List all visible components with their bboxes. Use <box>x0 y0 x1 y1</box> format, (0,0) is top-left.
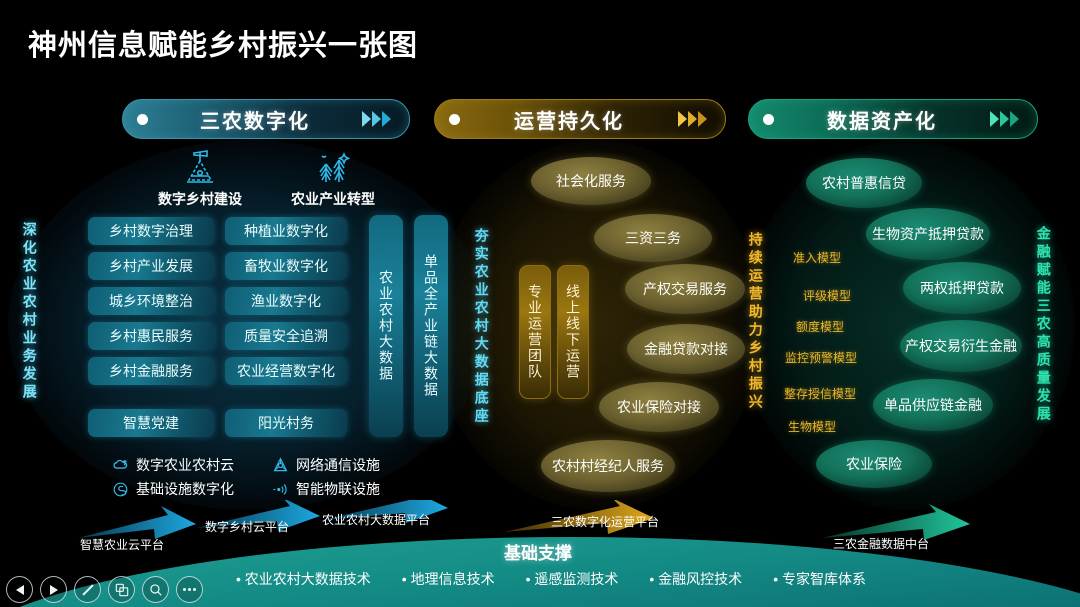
column-header-middle-label: 运营持久化 <box>460 105 678 134</box>
chip-left2-4[interactable]: 质量安全追溯 <box>225 322 347 350</box>
base-item-3: • 遥感监测技术 <box>526 569 619 589</box>
vbar-mid-1-label: 专业运营团队 <box>528 284 542 380</box>
agriculture-upgrade-icon <box>273 146 393 188</box>
chip-left2-1[interactable]: 种植业数字化 <box>225 217 347 245</box>
cloud-arrow-icon <box>112 457 129 474</box>
ellipse-right-3[interactable]: 两权抵押贷款 <box>903 262 1021 314</box>
ellipse-mid-5[interactable]: 农业保险对接 <box>599 382 719 432</box>
chip-left2-6[interactable]: 阳光村务 <box>225 409 347 437</box>
infrastructure-icon <box>112 481 129 498</box>
vbar-left-1[interactable]: 农业农村大数据 <box>369 215 403 437</box>
network-node-icon <box>272 457 289 474</box>
viewer-toolbar <box>6 576 203 603</box>
chevron-right-icon <box>362 111 395 127</box>
pen-button[interactable] <box>74 576 101 603</box>
ellipse-right-5[interactable]: 单品供应链金融 <box>873 379 993 431</box>
feature-left-2[interactable]: 网络通信设施 <box>272 455 380 475</box>
prev-button[interactable] <box>6 576 33 603</box>
base-support-title: 基础支撑 <box>504 539 572 564</box>
chip-left-3[interactable]: 城乡环境整治 <box>88 287 214 315</box>
model-text-1: 准入模型 <box>793 249 841 266</box>
chip-left-5[interactable]: 乡村金融服务 <box>88 357 214 385</box>
ellipse-mid-1[interactable]: 社会化服务 <box>531 157 651 205</box>
vbar-left-2-label: 单品全产业链大数据 <box>424 254 438 398</box>
side-label-left: 深化农业农村业务发展 <box>22 222 37 402</box>
feature-left-1-label: 数字农业农村云 <box>136 455 234 475</box>
model-text-4: 监控预警模型 <box>785 349 857 366</box>
chip-left2-3[interactable]: 渔业数字化 <box>225 287 347 315</box>
more-icon <box>183 588 196 591</box>
base-item-2: • 地理信息技术 <box>402 569 495 589</box>
ellipse-right-4[interactable]: 产权交易衍生金融 <box>900 320 1022 372</box>
side-label-middle: 持续运营助力乡村振兴 <box>748 232 763 412</box>
vbar-left-2[interactable]: 单品全产业链大数据 <box>414 215 448 437</box>
agriculture-upgrade-caption: 农业产业转型 <box>273 189 393 209</box>
feature-left-4-label: 智能物联设施 <box>296 479 380 499</box>
feature-left-4[interactable]: 智能物联设施 <box>272 479 380 499</box>
column-header-middle[interactable]: 运营持久化 <box>434 99 726 139</box>
chip-left2-5[interactable]: 农业经营数字化 <box>225 357 347 385</box>
ellipse-mid-6[interactable]: 农村村经纪人服务 <box>541 440 675 492</box>
bullet-dot-icon <box>449 114 460 125</box>
ellipse-right-1[interactable]: 农村普惠信贷 <box>806 158 922 208</box>
more-button[interactable] <box>176 576 203 603</box>
triangle-left-icon <box>16 585 24 595</box>
village-build-caption: 数字乡村建设 <box>140 189 260 209</box>
model-text-2: 评级模型 <box>803 287 851 304</box>
search-icon <box>149 583 163 597</box>
base-item-5: • 专家智库体系 <box>773 569 866 589</box>
iot-signal-icon <box>272 481 289 498</box>
model-text-3: 额度模型 <box>796 318 844 335</box>
side-label-right: 金融赋能三农高质量发展 <box>1036 226 1051 424</box>
layers-icon <box>115 583 129 597</box>
ellipse-right-2[interactable]: 生物资产抵押贷款 <box>866 208 990 260</box>
page-title: 神州信息赋能乡村振兴一张图 <box>28 22 418 64</box>
ellipse-mid-4[interactable]: 金融贷款对接 <box>627 324 745 374</box>
vbar-left-1-label: 农业农村大数据 <box>379 270 393 382</box>
bullet-dot-icon <box>763 114 774 125</box>
village-build-icon <box>140 146 260 188</box>
next-button[interactable] <box>40 576 67 603</box>
triangle-right-icon <box>50 585 58 595</box>
pen-icon <box>82 584 93 595</box>
vbar-mid-2-label: 线上线下运营 <box>566 284 580 380</box>
layers-button[interactable] <box>108 576 135 603</box>
base-item-4: • 金融风控技术 <box>649 569 742 589</box>
base-item-1: • 农业农村大数据技术 <box>236 569 371 589</box>
chip-left-6[interactable]: 智慧党建 <box>88 409 214 437</box>
arrow-label-3: 农业农村大数据平台 <box>322 511 430 528</box>
vbar-mid-2[interactable]: 线上线下运营 <box>557 265 589 399</box>
slide-canvas: 神州信息赋能乡村振兴一张图 三农数字化 运营持久化 数据资产化 深化农业农村业务… <box>0 0 1080 607</box>
column-header-left-label: 三农数字化 <box>148 105 362 134</box>
chip-left-1[interactable]: 乡村数字治理 <box>88 217 214 245</box>
chip-left-4[interactable]: 乡村惠民服务 <box>88 322 214 350</box>
base-support-items: • 农业农村大数据技术 • 地理信息技术 • 遥感监测技术 • 金融风控技术 •… <box>236 569 866 589</box>
model-text-5: 整存授信模型 <box>784 385 856 402</box>
side-label-left-inner: 夯实农业农村大数据底座 <box>474 228 489 426</box>
ellipse-right-6[interactable]: 农业保险 <box>816 440 932 488</box>
village-build-block[interactable]: 数字乡村建设 <box>140 146 260 209</box>
column-header-right[interactable]: 数据资产化 <box>748 99 1038 139</box>
vbar-mid-1[interactable]: 专业运营团队 <box>519 265 551 399</box>
search-button[interactable] <box>142 576 169 603</box>
feature-left-3-label: 基础设施数字化 <box>136 479 234 499</box>
feature-left-3[interactable]: 基础设施数字化 <box>112 479 234 499</box>
bullet-dot-icon <box>137 114 148 125</box>
chevron-right-icon <box>678 111 711 127</box>
chip-left2-2[interactable]: 畜牧业数字化 <box>225 252 347 280</box>
column-header-right-label: 数据资产化 <box>774 105 990 134</box>
feature-left-2-label: 网络通信设施 <box>296 455 380 475</box>
agriculture-upgrade-block[interactable]: 农业产业转型 <box>273 146 393 209</box>
column-header-left[interactable]: 三农数字化 <box>122 99 410 139</box>
chevron-right-icon <box>990 111 1023 127</box>
feature-left-1[interactable]: 数字农业农村云 <box>112 455 234 475</box>
arrow-label-4: 三农数字化运营平台 <box>551 513 659 530</box>
model-text-6: 生物模型 <box>788 418 836 435</box>
ellipse-mid-2[interactable]: 三资三务 <box>594 214 712 262</box>
chip-left-2[interactable]: 乡村产业发展 <box>88 252 214 280</box>
ellipse-mid-3[interactable]: 产权交易服务 <box>625 264 745 314</box>
